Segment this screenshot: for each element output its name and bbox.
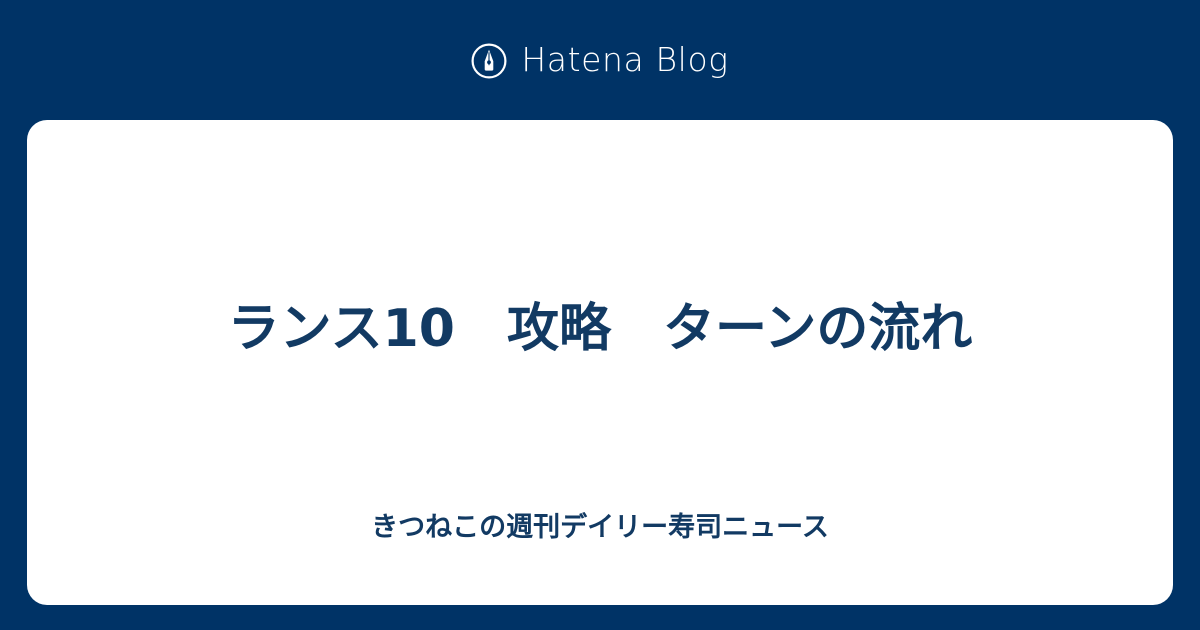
site-header: Hatena Blog [0,0,1200,120]
blog-title: きつねこの週刊デイリー寿司ニュース [27,510,1173,546]
pen-nib-circle-icon [471,43,507,79]
entry-card: ランス10 攻略 ターンの流れ きつねこの週刊デイリー寿司ニュース [27,120,1173,605]
entry-title: ランス10 攻略 ターンの流れ [27,298,1173,360]
service-name: Hatena Blog [521,42,728,78]
